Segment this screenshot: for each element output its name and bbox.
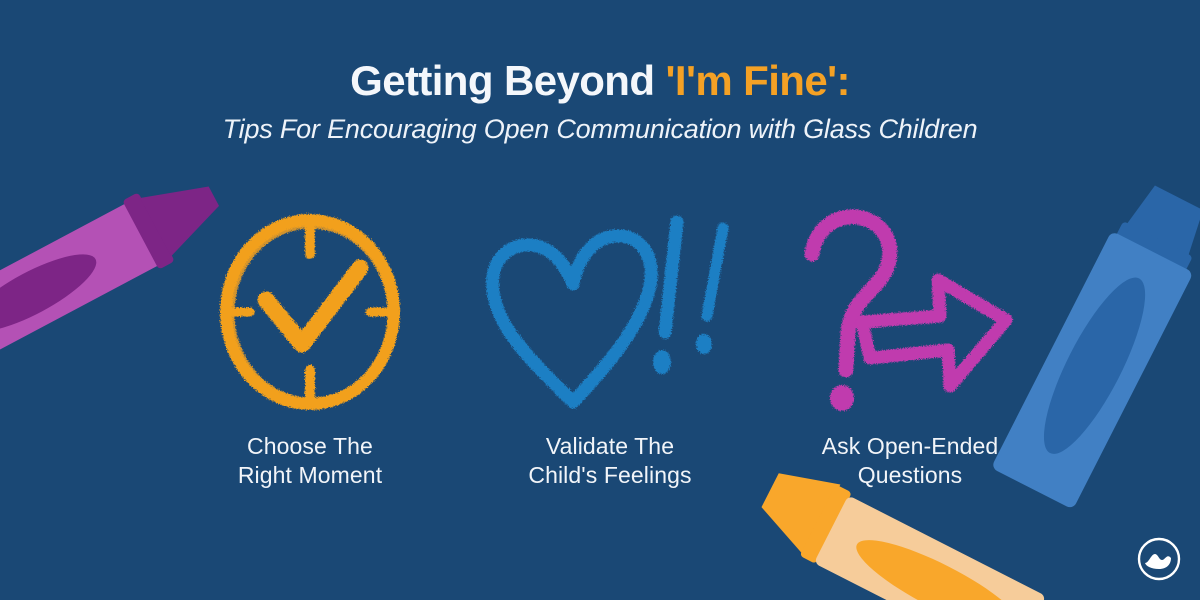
question-arrow-icon [800,196,1020,426]
tip-label: Validate The Child's Feelings [528,432,691,490]
title-main-text: Getting Beyond [350,57,665,104]
tips-row: Choose The Right Moment [160,196,1060,516]
poster-canvas: Getting Beyond 'I'm Fine': Tips For Enco… [0,0,1200,600]
tip-card-validate-the-childs-feelings: Validate The Child's Feelings [460,196,760,490]
clock-check-icon [210,196,410,426]
tip-label: Choose The Right Moment [238,432,382,490]
heart-exclamation-icon [485,196,735,426]
poster-header: Getting Beyond 'I'm Fine': Tips For Enco… [0,0,1200,145]
page-subtitle: Tips For Encouraging Open Communication … [0,114,1200,145]
title-accent-text: 'I'm Fine': [665,57,849,104]
tip-card-ask-open-ended-questions: Ask Open-Ended Questions [760,196,1060,490]
page-title: Getting Beyond 'I'm Fine': [0,58,1200,104]
tip-card-choose-the-right-moment: Choose The Right Moment [160,196,460,490]
tip-label: Ask Open-Ended Questions [822,432,999,490]
brand-logo[interactable] [1136,536,1182,582]
